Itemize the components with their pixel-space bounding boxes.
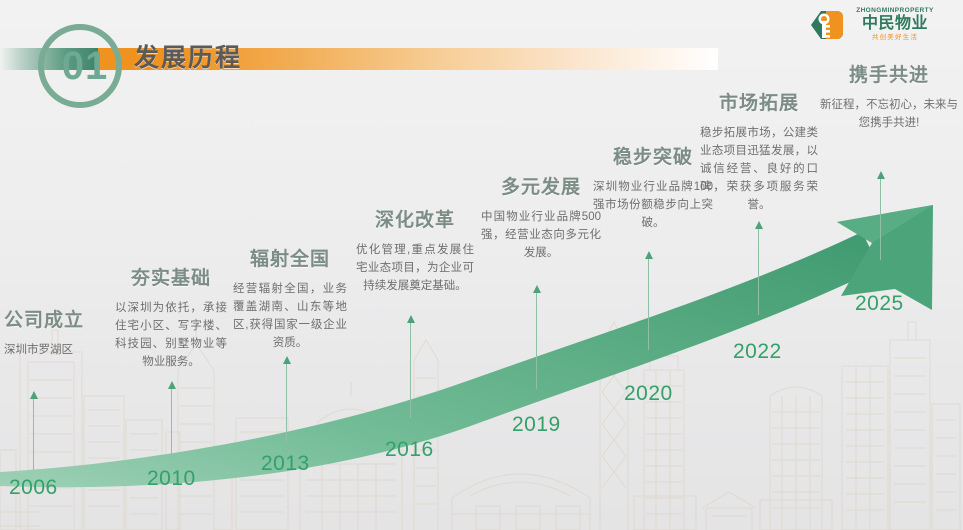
milestone-2019: 多元发展 中国物业行业品牌500强，经营业态向多元化发展。 (481, 172, 601, 262)
milestone-2006: 公司成立 深圳市罗湖区 (4, 305, 108, 359)
logo-english: ZHONGMINPROPERTY (847, 6, 943, 15)
milestone-title: 辐射全国 (233, 244, 347, 271)
milestone-stem-2020 (648, 258, 649, 350)
milestone-title: 携手共进 (820, 60, 958, 87)
company-logo: ZHONGMINPROPERTY 中民物业 共创美好生活 (809, 6, 941, 44)
milestone-2016: 深化改革 优化管理,重点发展住宅业态项目，为企业可持续发展奠定基础。 (356, 205, 474, 295)
milestone-stem-2010 (171, 388, 172, 460)
milestone-desc: 中国物业行业品牌500强，经营业态向多元化发展。 (481, 208, 601, 262)
logo-slogan: 共创美好生活 (847, 33, 943, 43)
milestone-stem-2006 (33, 398, 34, 470)
milestone-year-2013: 2013 (261, 452, 310, 476)
milestone-stem-2016 (410, 322, 411, 418)
page-title: 发展历程 (134, 41, 242, 75)
milestone-desc: 深圳市罗湖区 (4, 341, 108, 359)
milestone-year-2010: 2010 (147, 467, 196, 491)
milestone-desc: 新征程，不忘初心，未来与您携手共进! (820, 96, 958, 132)
milestone-year-2006: 2006 (9, 476, 58, 500)
milestone-2010: 夯实基础 以深圳为依托，承接住宅小区、写字楼、科技园、别墅物业等物业服务。 (115, 263, 227, 371)
logo-chinese: 中民物业 (847, 15, 943, 33)
milestone-title: 夯实基础 (115, 263, 227, 290)
milestone-title: 公司成立 (4, 305, 108, 332)
milestone-stem-2025 (880, 178, 881, 260)
milestone-stem-2022 (758, 228, 759, 315)
milestone-title: 稳步突破 (593, 142, 713, 169)
milestone-desc: 优化管理,重点发展住宅业态项目，为企业可持续发展奠定基础。 (356, 241, 474, 295)
milestone-desc: 稳步拓展市场，公建类业态项目迅猛发展，以诚信经营、良好的口碑，荣获多项服务荣誉。 (700, 124, 818, 214)
logo-text: ZHONGMINPROPERTY 中民物业 共创美好生活 (847, 6, 943, 43)
milestone-desc: 深圳物业行业品牌100 强市场份额稳步向上突破。 (593, 178, 713, 232)
slide-canvas: 01 发展历程 ZHONGMINPROPERTY 中民物业 共创美好生活 (0, 0, 963, 530)
key-diamond-icon (809, 8, 843, 42)
milestone-2013: 辐射全国 经营辐射全国，业务覆盖湖南、山东等地区,获得国家一级企业资质。 (233, 244, 347, 352)
milestone-stem-2019 (536, 292, 537, 389)
milestone-desc: 以深圳为依托，承接住宅小区、写字楼、科技园、别墅物业等物业服务。 (115, 299, 227, 371)
milestone-year-2019: 2019 (512, 413, 561, 437)
milestone-2025: 携手共进 新征程，不忘初心，未来与您携手共进! (820, 60, 958, 132)
section-number: 01 (55, 40, 115, 92)
milestone-year-2020: 2020 (624, 382, 673, 406)
milestone-title: 多元发展 (481, 172, 601, 199)
milestone-year-2016: 2016 (385, 438, 434, 462)
milestone-2022: 市场拓展 稳步拓展市场，公建类业态项目迅猛发展，以诚信经营、良好的口碑，荣获多项… (700, 88, 818, 214)
milestone-year-2025: 2025 (855, 292, 904, 316)
milestone-stem-2013 (286, 363, 287, 443)
milestone-title: 深化改革 (356, 205, 474, 232)
milestone-2020: 稳步突破 深圳物业行业品牌100 强市场份额稳步向上突破。 (593, 142, 713, 232)
milestone-year-2022: 2022 (733, 340, 782, 364)
milestone-title: 市场拓展 (700, 88, 818, 115)
milestone-desc: 经营辐射全国，业务覆盖湖南、山东等地区,获得国家一级企业资质。 (233, 280, 347, 352)
